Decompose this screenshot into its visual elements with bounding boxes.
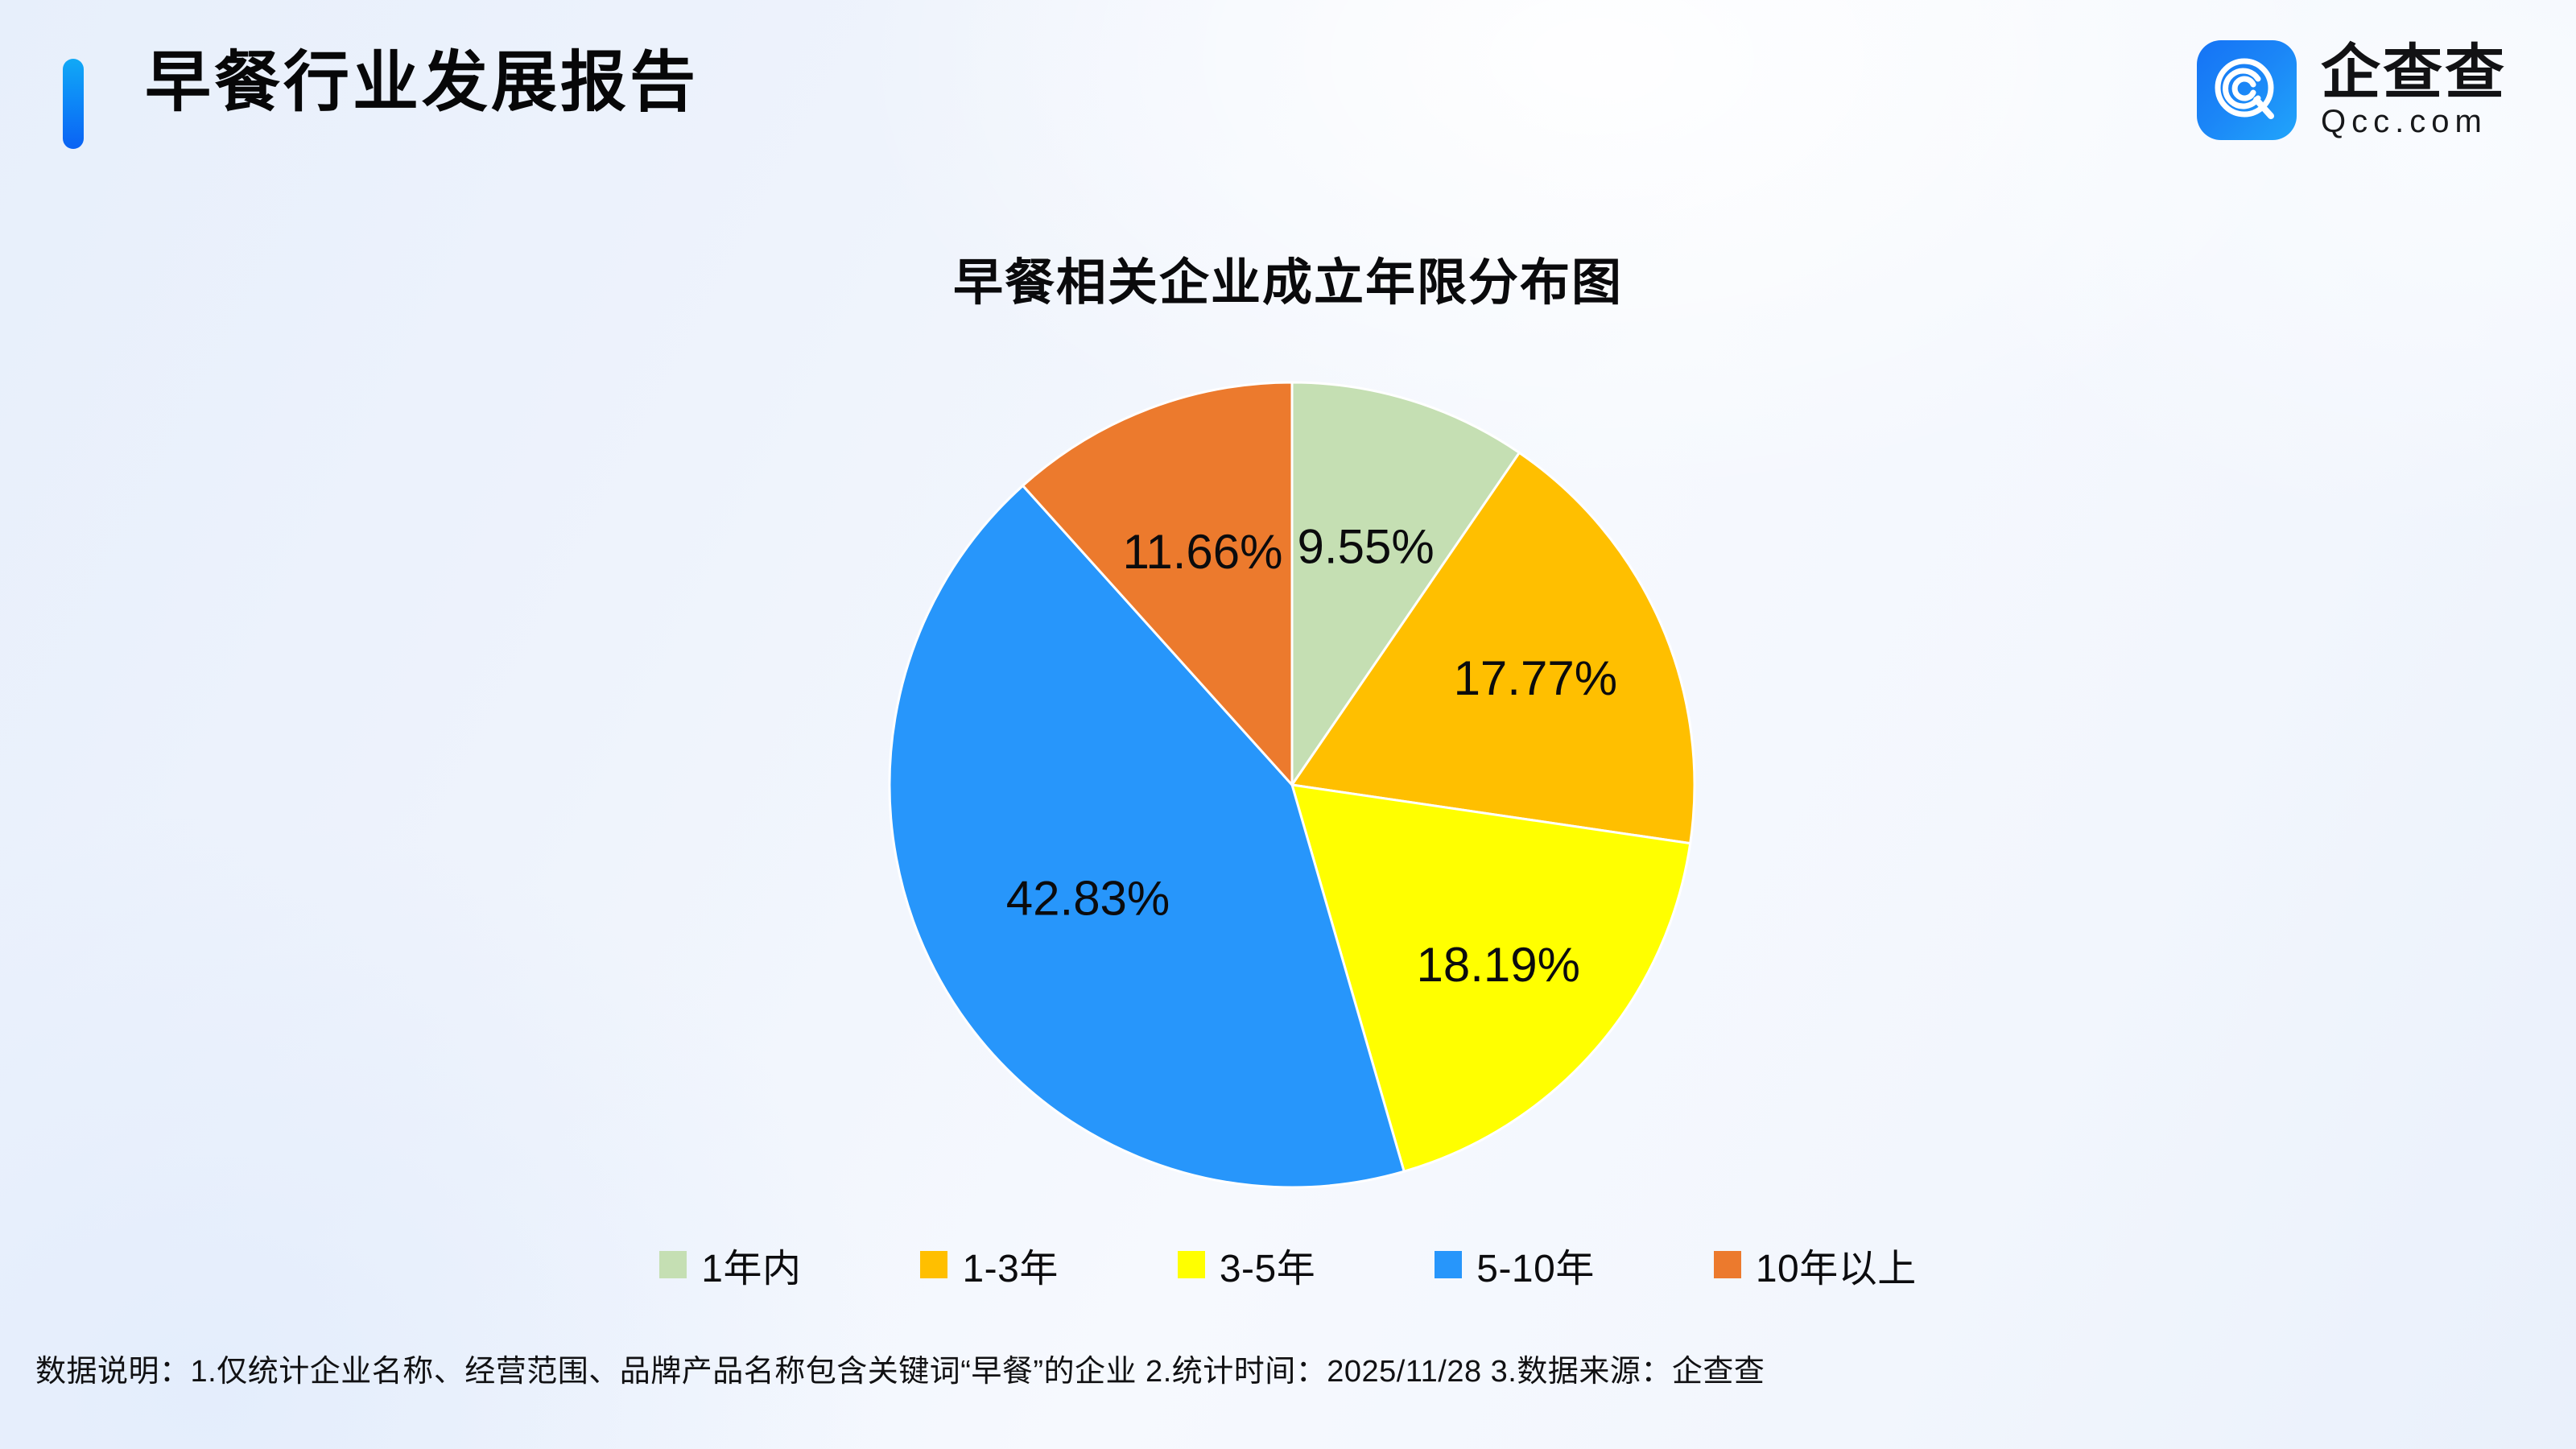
legend-item-label: 1-3年 (962, 1236, 1058, 1293)
title-accent-bar (63, 59, 84, 149)
page-header: 早餐行业发展报告 企查查 Qcc.com (0, 0, 2576, 193)
pie-chart: 9.55%17.77%18.19%42.83%11.66% (877, 370, 1707, 1199)
qcc-q-logo-icon (2197, 40, 2297, 140)
legend-item-label: 5-10年 (1476, 1236, 1595, 1293)
pie-slice-label: 18.19% (1416, 938, 1580, 992)
footnote-text: 数据说明：1.仅统计企业名称、经营范围、品牌产品名称包含关键词“早餐”的企业 2… (35, 1346, 1765, 1390)
legend-swatch-icon (659, 1251, 687, 1278)
legend-swatch-icon (920, 1251, 947, 1278)
legend-item[interactable]: 1-3年 (920, 1236, 1058, 1293)
pie-slice-label: 17.77% (1454, 651, 1618, 705)
legend-item-label: 10年以上 (1756, 1236, 1917, 1293)
legend-item-label: 3-5年 (1220, 1236, 1315, 1293)
pie-chart-svg: 9.55%17.77%18.19%42.83%11.66% (877, 370, 1707, 1199)
pie-slice-label: 42.83% (1006, 871, 1170, 925)
legend-item[interactable]: 5-10年 (1435, 1236, 1595, 1293)
chart-legend: 1年内1-3年3-5年5-10年10年以上 (0, 1236, 2576, 1293)
brand-logo: 企查查 Qcc.com (2197, 40, 2507, 140)
brand-name-en: Qcc.com (2321, 105, 2507, 138)
legend-swatch-icon (1714, 1251, 1741, 1278)
legend-item-label: 1年内 (701, 1236, 801, 1293)
legend-swatch-icon (1178, 1251, 1205, 1278)
brand-name-cn: 企查查 (2321, 43, 2507, 102)
legend-swatch-icon (1435, 1251, 1462, 1278)
legend-item[interactable]: 1年内 (659, 1236, 801, 1293)
pie-slice-label: 11.66% (1122, 525, 1282, 579)
chart-title: 早餐相关企业成立年限分布图 (0, 242, 2576, 314)
legend-item[interactable]: 10年以上 (1714, 1236, 1917, 1293)
brand-logo-text: 企查查 Qcc.com (2321, 43, 2507, 138)
pie-slice-label: 9.55% (1298, 519, 1435, 573)
legend-item[interactable]: 3-5年 (1178, 1236, 1315, 1293)
page-title: 早餐行业发展报告 (145, 43, 699, 122)
